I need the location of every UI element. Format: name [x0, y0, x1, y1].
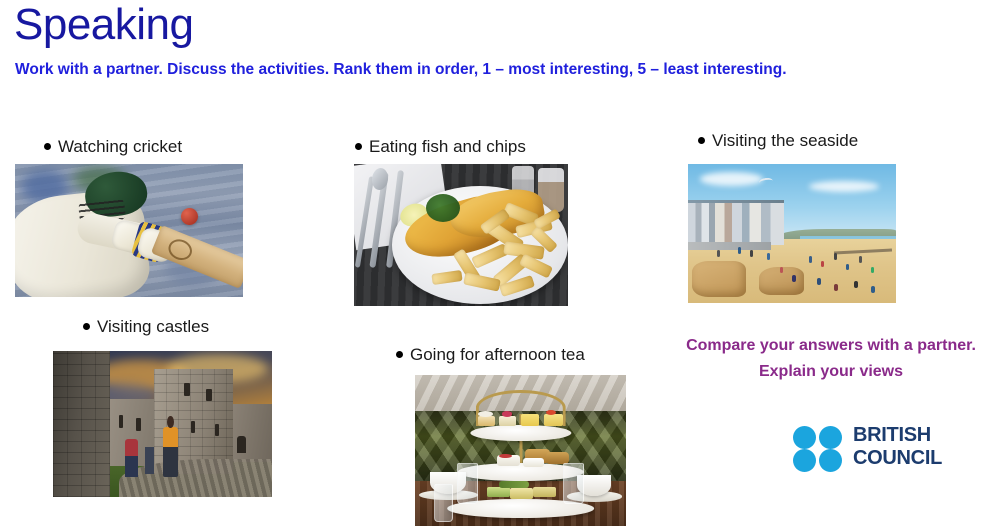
- castle-visitor: [145, 447, 154, 473]
- cricket-batsman-photo: [15, 164, 243, 297]
- castle-photo: [53, 351, 272, 497]
- bullet-dot-icon: [396, 351, 403, 358]
- bullet-dot-icon: [83, 323, 90, 330]
- cricket-ball: [181, 208, 198, 225]
- logo-wordmark: BRITISH COUNCIL: [853, 424, 942, 470]
- british-council-logo: BRITISH COUNCIL: [793, 424, 945, 472]
- bullet-dot-icon: [698, 137, 705, 144]
- logo-line-2: COUNCIL: [853, 447, 942, 470]
- activity-label-text: Watching cricket: [58, 137, 182, 156]
- fish-and-chips-photo: [354, 164, 568, 306]
- activity-label-visiting-castles: Visiting castles: [83, 316, 209, 338]
- activity-label-text: Visiting castles: [97, 317, 209, 336]
- activity-label-text: Visiting the seaside: [712, 131, 858, 150]
- activity-label-text: Going for afternoon tea: [410, 345, 585, 364]
- speaking-slide: Speaking Work with a partner. Discuss th…: [0, 0, 1000, 526]
- instruction-text: Work with a partner. Discuss the activit…: [15, 58, 895, 82]
- activity-label-eating-fish-and-chips: Eating fish and chips: [355, 136, 526, 158]
- logo-line-1: BRITISH: [853, 424, 942, 447]
- seaside-beach-photo: [688, 164, 896, 303]
- page-title: Speaking: [14, 0, 193, 52]
- bullet-dot-icon: [355, 143, 362, 150]
- castle-visitor-orange-jacket: [163, 427, 178, 477]
- bullet-dot-icon: [44, 143, 51, 150]
- castle-visitor: [125, 439, 138, 477]
- logo-dots-icon: [793, 426, 845, 470]
- activity-label-text: Eating fish and chips: [369, 137, 526, 156]
- activity-label-visiting-the-seaside: Visiting the seaside: [698, 130, 858, 152]
- activity-label-watching-cricket: Watching cricket: [44, 136, 182, 158]
- afternoon-tea-photo: [415, 375, 626, 526]
- callout-text: Compare your answers with a partner. Exp…: [686, 333, 976, 385]
- activity-label-going-for-afternoon-tea: Going for afternoon tea: [396, 344, 585, 366]
